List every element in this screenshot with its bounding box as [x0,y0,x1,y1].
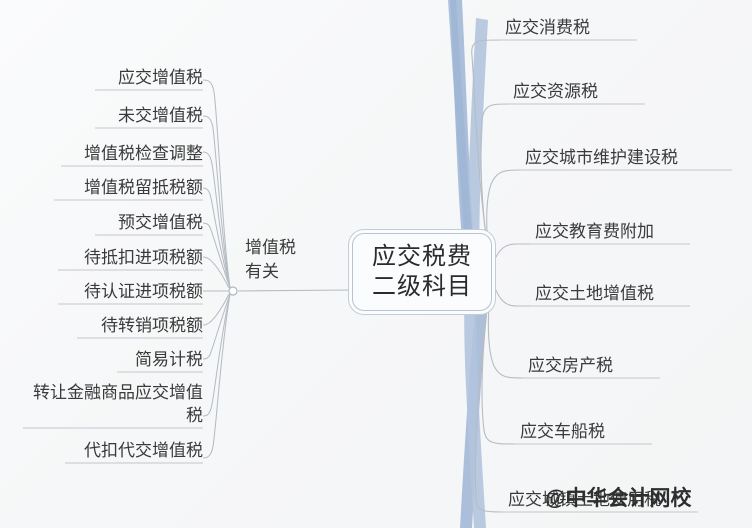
group-label-line1: 增值税 [245,236,305,260]
left-edge-1 [203,80,230,288]
left-edge-3 [203,152,230,287]
watermark-text: @中华会计网校 [545,486,691,512]
left-node-3[interactable]: 增值税检查调整 [61,142,203,165]
left-node-11[interactable]: 代扣代交增值税 [65,439,203,462]
left-node-10[interactable]: 转让金融商品应交增值税 [23,381,203,427]
right-node-7[interactable]: 应交车船税 [520,420,605,443]
right-edge-5 [492,280,530,306]
right-edge-8 [476,280,503,512]
left-node-7[interactable]: 待认证进项税额 [58,280,203,303]
right-edge-4 [492,244,530,266]
left-junction-dot [229,287,237,295]
group-label-vat: 增值税 有关 [245,236,305,284]
left-node-9[interactable]: 简易计税 [117,348,203,371]
left-edge-4 [203,188,230,287]
right-trunk-5 [448,0,474,256]
center-node-line2: 二级科目 [372,272,472,302]
left-stem [238,290,352,291]
right-node-5[interactable]: 应交土地增值税 [535,282,654,305]
left-edge-8 [203,294,229,325]
left-stem-group [229,287,352,295]
center-node[interactable]: 应交税费 二级科目 [352,233,492,311]
left-edges-group [203,80,230,458]
right-edge-6 [488,278,523,378]
right-node-2[interactable]: 应交资源税 [513,80,598,103]
left-node-8[interactable]: 待转销项税额 [77,314,203,337]
group-label-line2: 有关 [245,260,305,284]
right-trunk-3 [460,278,491,528]
left-node-2[interactable]: 未交增值税 [98,104,203,127]
right-node-6[interactable]: 应交房产税 [528,354,613,377]
right-node-1[interactable]: 应交消费税 [505,16,590,39]
center-node-line1: 应交税费 [372,242,472,272]
left-edge-9 [203,294,230,359]
left-edge-2 [203,116,230,288]
right-node-3[interactable]: 应交城市维护建设税 [525,146,678,169]
right-trunk-4 [464,280,486,528]
left-edge-11 [203,294,230,458]
left-node-1[interactable]: 应交增值税 [98,66,203,89]
left-node-6[interactable]: 待抵扣进项税额 [58,246,203,269]
left-edge-5 [203,223,230,288]
left-edge-6 [203,257,229,288]
left-edge-10 [203,294,230,416]
right-node-4[interactable]: 应交教育费附加 [535,220,654,243]
left-node-5[interactable]: 预交增值税 [95,211,203,234]
mindmap-canvas: 应交税费 二级科目 增值税 有关 应交增值税 未交增值税 增值税检查调整 增值税… [0,0,752,528]
left-node-4[interactable]: 增值税留抵税额 [54,176,203,199]
